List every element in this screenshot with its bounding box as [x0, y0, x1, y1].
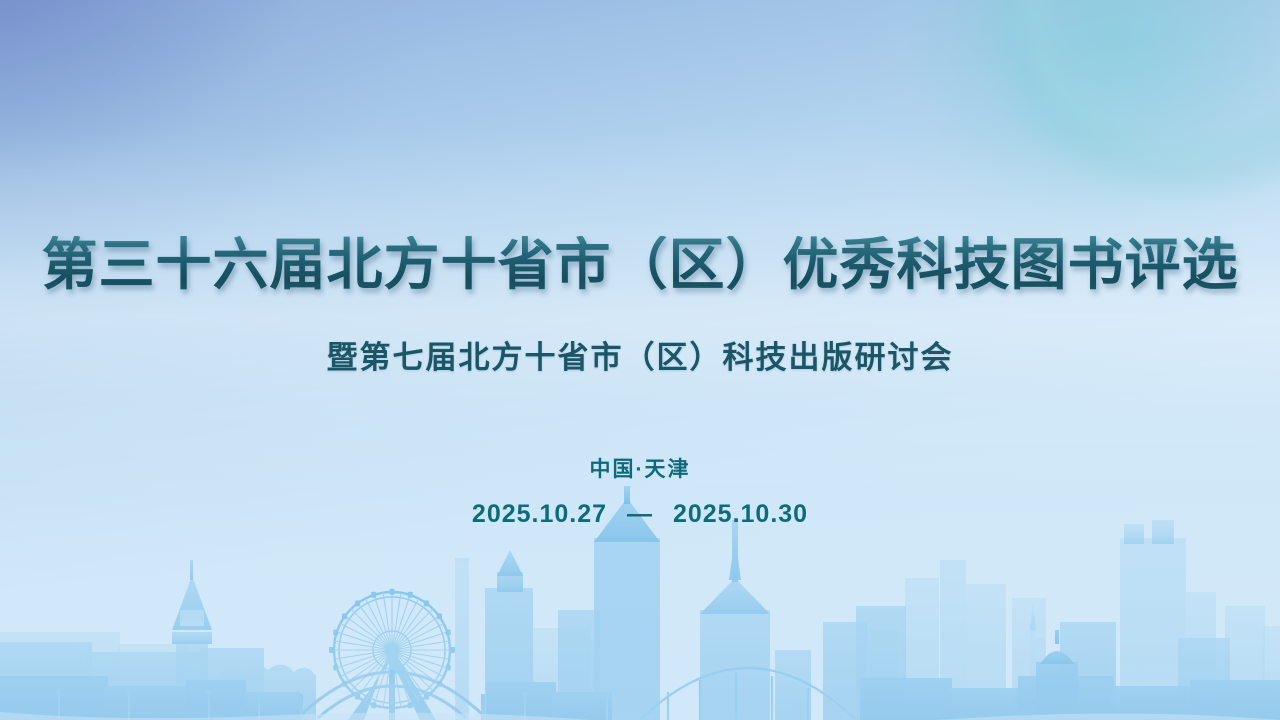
- date-separator: —: [615, 500, 665, 528]
- page-subtitle: 暨第七届北方十省市（区）科技出版研讨会: [0, 332, 1280, 377]
- date-end: 2025.10.30: [673, 500, 808, 528]
- venue-label: 中国·天津: [0, 453, 1280, 483]
- date-start: 2025.10.27: [472, 500, 607, 528]
- poster-text-block: 第三十六届北方十省市（区）优秀科技图书评选 暨第七届北方十省市（区）科技出版研讨…: [0, 0, 1280, 720]
- event-dates: 2025.10.27 — 2025.10.30: [0, 500, 1280, 529]
- page-title: 第三十六届北方十省市（区）优秀科技图书评选: [0, 236, 1280, 295]
- poster-canvas: 第三十六届北方十省市（区）优秀科技图书评选 暨第七届北方十省市（区）科技出版研讨…: [0, 0, 1280, 720]
